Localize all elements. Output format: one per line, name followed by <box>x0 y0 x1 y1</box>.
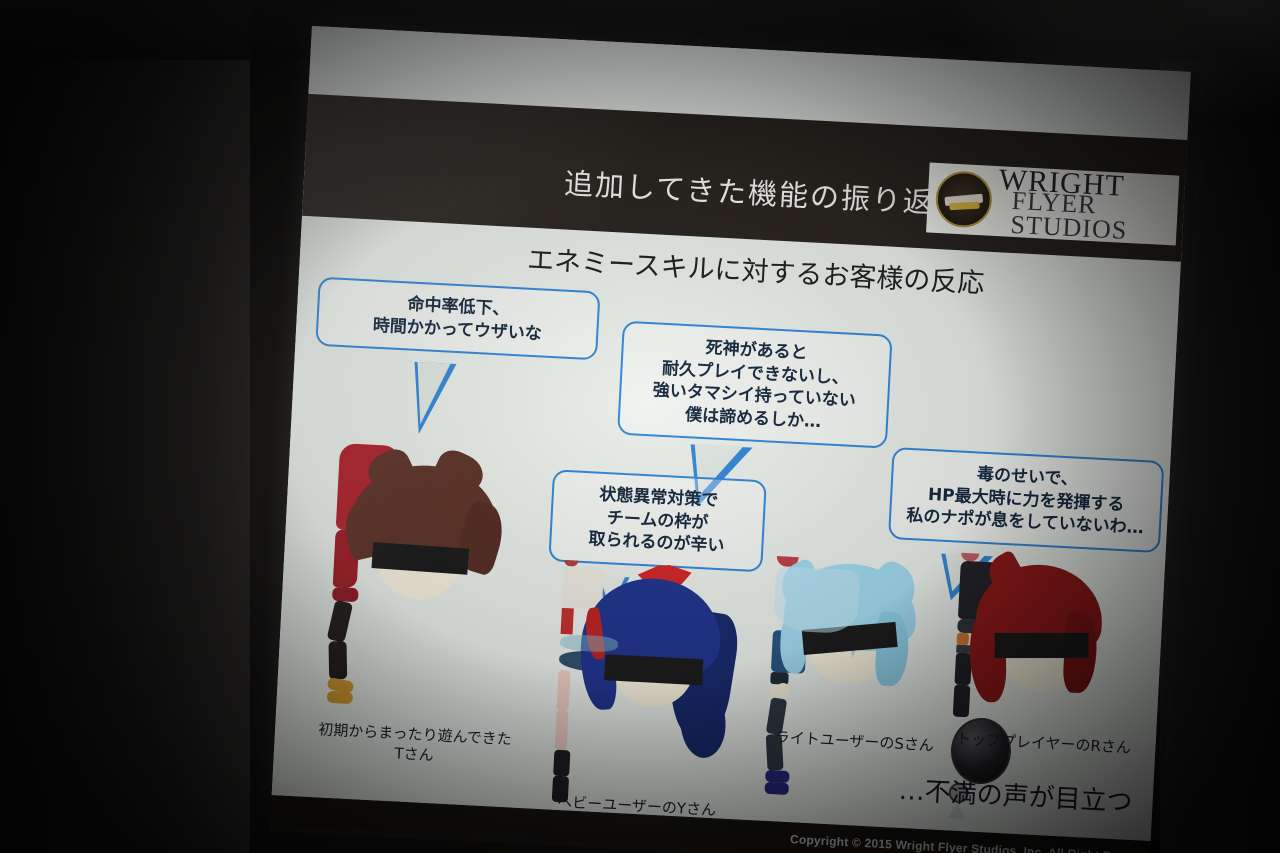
bubble-1-tail-fill <box>414 362 450 426</box>
boot <box>553 750 570 777</box>
logo-wordmark: WRIGHT FLYER STUDIOS <box>996 166 1179 245</box>
speech-bubble-4: 毒のせいで、 HP最大時に力を発揮する 私のナポが息をしていないわ… <box>888 447 1164 553</box>
leg <box>554 710 568 751</box>
leg <box>329 641 348 679</box>
speech-bubble-2: 死神があると 耐久プレイできないし、 強いタマシイ持っていない 僕は諦めるしか… <box>617 321 893 449</box>
eye-censor-bar <box>604 654 703 685</box>
presentation-photo: 追加してきた機能の振り返り WRIGHT FLYER STUDIOS エネミース… <box>0 0 1280 853</box>
room-wall-left <box>0 0 250 853</box>
shoe <box>764 782 789 795</box>
leg <box>557 670 571 711</box>
shoe <box>327 691 354 704</box>
speech-bubble-3: 状態異常対策で チームの枠が 取られるのが辛い <box>548 469 767 572</box>
logo-line-2: FLYER STUDIOS <box>1010 189 1178 245</box>
red-tie <box>561 608 574 635</box>
character-t-illustration <box>326 443 520 717</box>
plane-badge-icon <box>934 170 993 229</box>
leg <box>953 685 971 718</box>
wright-flyer-studios-logo: WRIGHT FLYER STUDIOS <box>926 163 1179 246</box>
coat-collar <box>332 587 359 602</box>
projection-screen: 追加してきた機能の振り返り WRIGHT FLYER STUDIOS エネミース… <box>271 26 1191 853</box>
eye-censor-bar <box>995 633 1089 658</box>
cape <box>773 566 860 634</box>
outfit-accent <box>957 633 970 646</box>
